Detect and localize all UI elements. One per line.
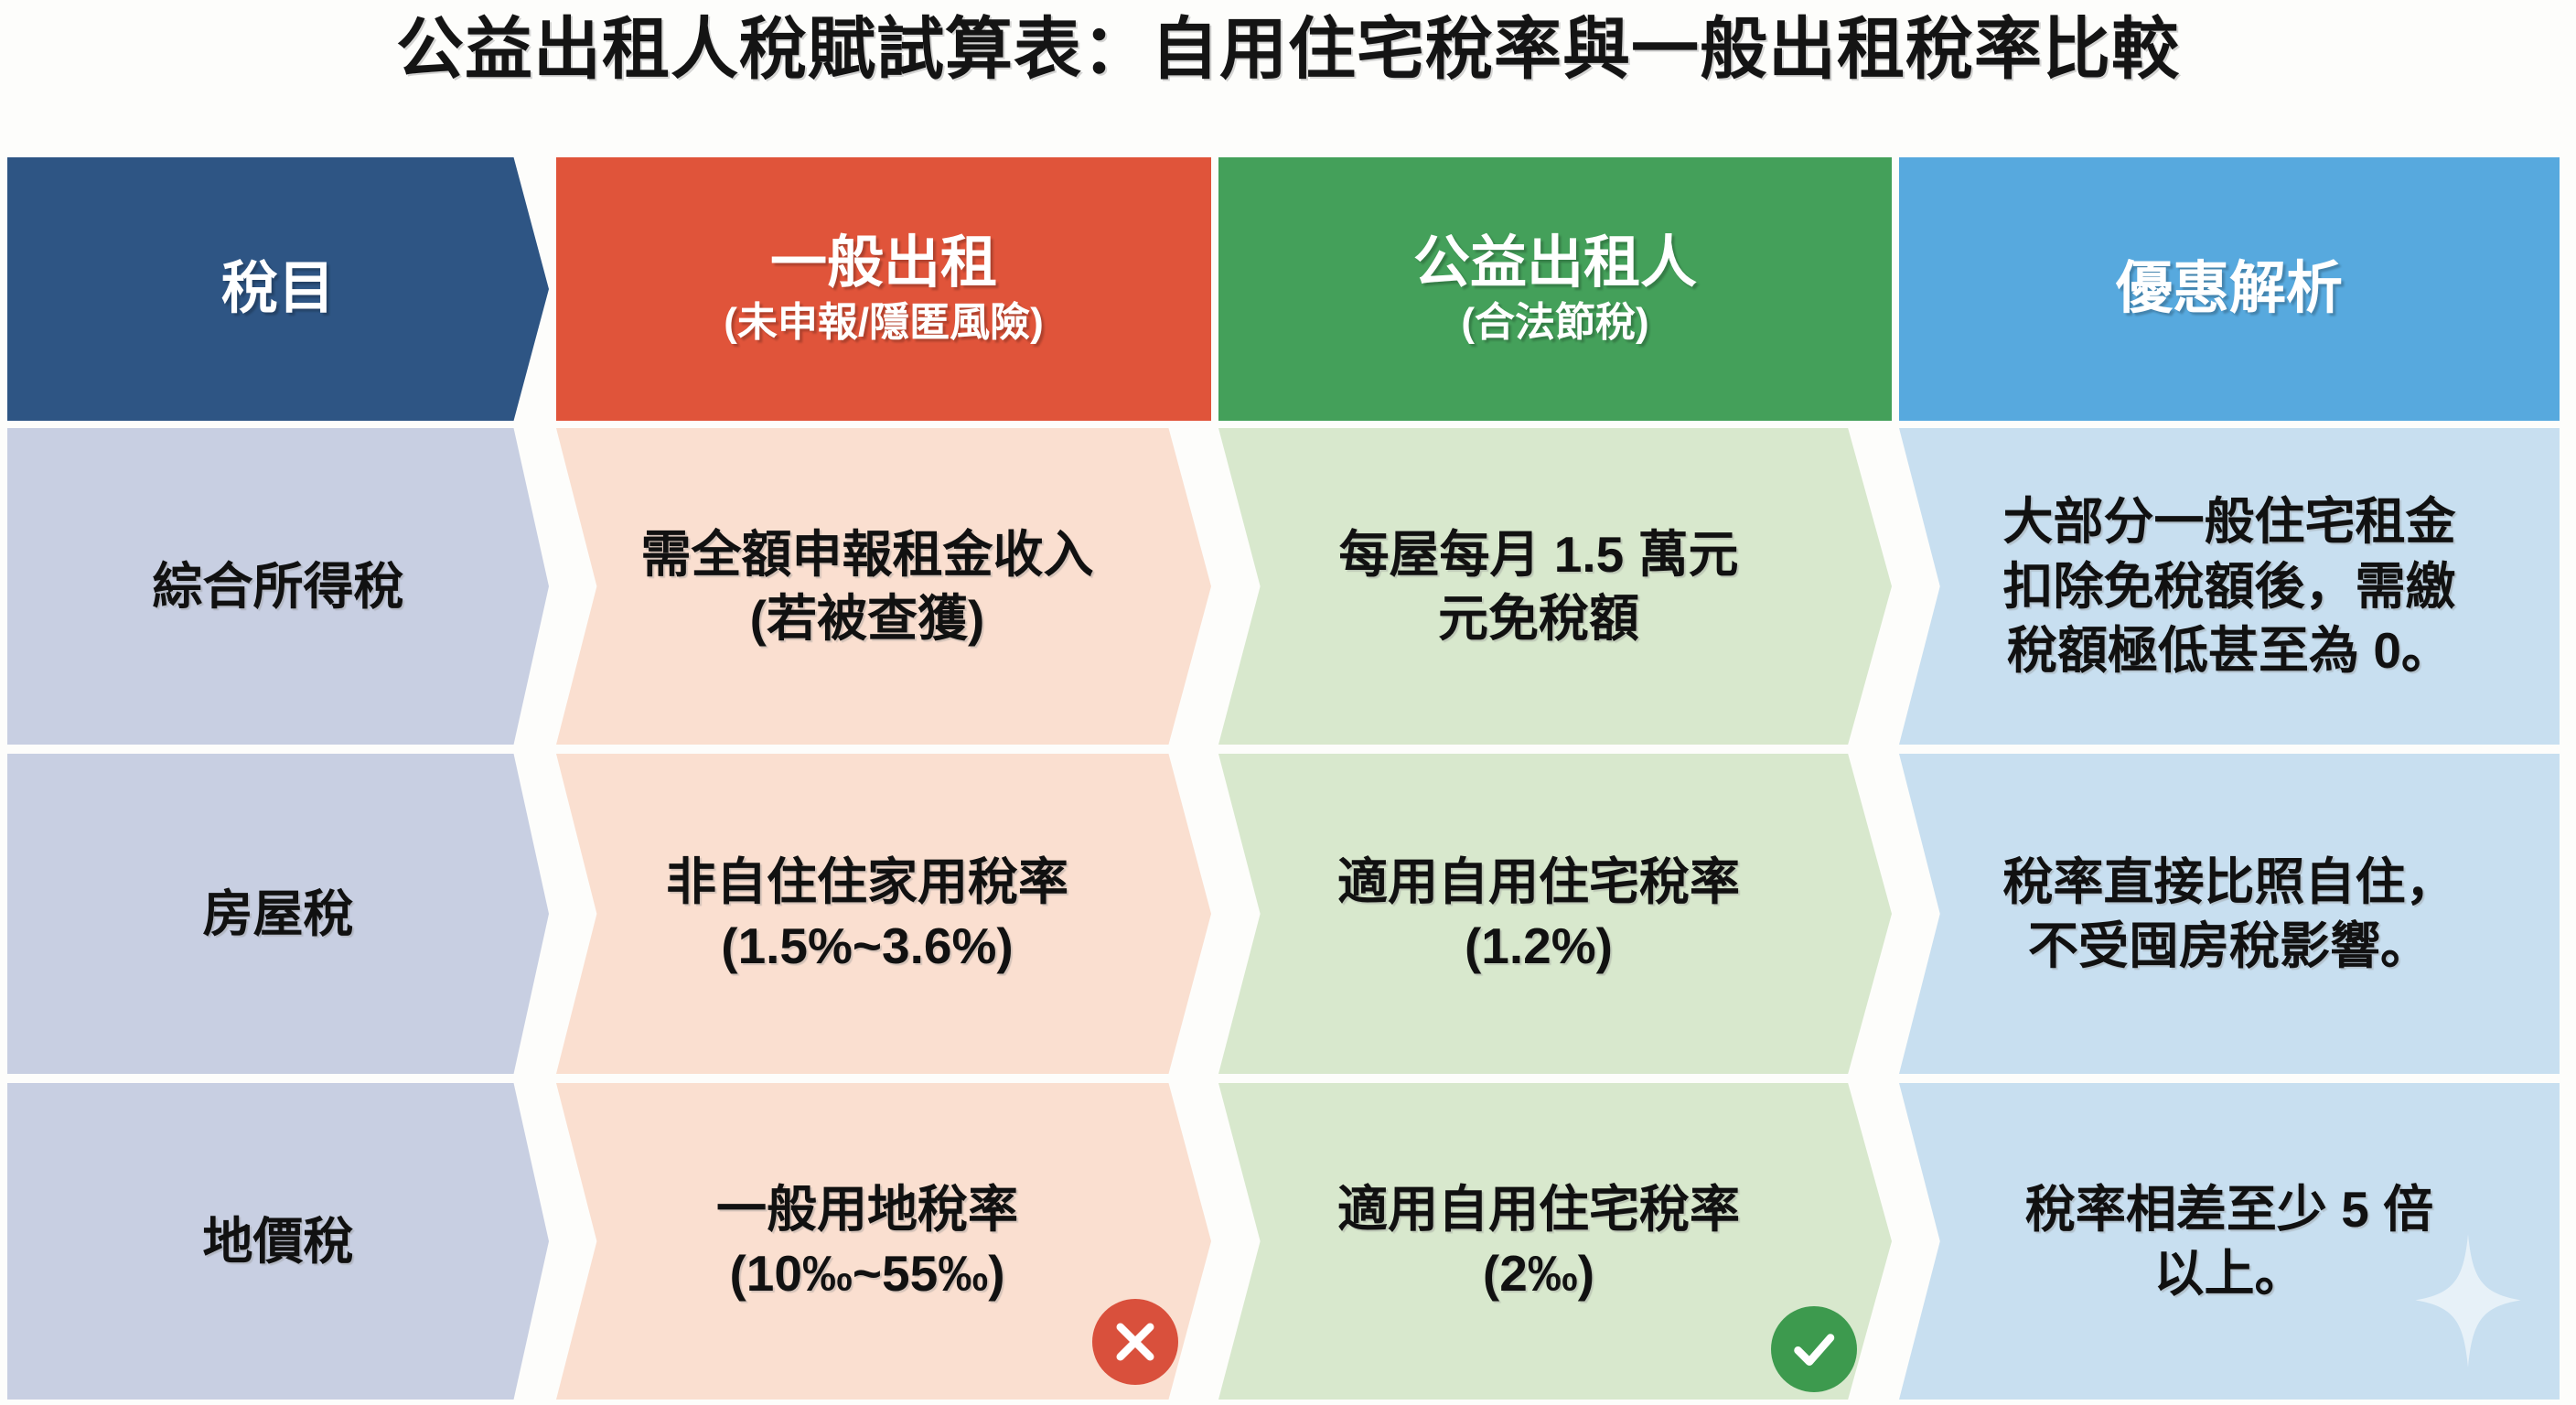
cell-general-rent-text: 非自住住家用稅率(1.5%~3.6%): [635, 850, 1100, 979]
cell-benefit-text: 稅率直接比照自住，不受囤房稅影響。: [1975, 850, 2483, 979]
cell-benefit-text: 大部分一般住宅租金扣除免稅額後，需繳稅額極低甚至為 0。: [1975, 489, 2483, 682]
header-label-main: 優惠解析: [2116, 256, 2343, 321]
comparison-table: 稅目 一般出租 (未申報/隱匿風險) 公益出租人 (合法節稅) 優惠解析 綜合所…: [7, 157, 2565, 1400]
check-icon: [1771, 1306, 1857, 1392]
table-header-tax-item: 稅目: [7, 157, 549, 421]
cell-public-landlord-text: 每屋每月 1.5 萬元元免稅額: [1307, 522, 1769, 651]
cell-general-rent-text: 一般用地稅率(10‰~55‰): [685, 1177, 1049, 1306]
table-header-public-landlord: 公益出租人 (合法節稅): [1218, 157, 1892, 421]
table-header-general-rent: 一般出租 (未申報/隱匿風險): [556, 157, 1211, 421]
cell-general-rent-text: 需全額申報租金收入(若被查獲): [609, 522, 1124, 651]
table-row: 地價稅: [7, 1083, 549, 1400]
cell-public-landlord: 適用自用住宅稅率(1.2%): [1218, 754, 1892, 1074]
header-label-main: 稅目: [221, 256, 335, 321]
cell-tax-item: 地價稅: [171, 1209, 384, 1273]
page-title: 公益出租人稅賦試算表：自用住宅稅率與一般出租稅率比較: [0, 5, 2576, 93]
cell-benefit-text: 稅率相差至少 5 倍以上。: [1998, 1177, 2461, 1306]
header-label-main: 公益出租人: [1413, 231, 1697, 295]
table-header-benefit: 優惠解析: [1899, 157, 2560, 421]
cell-general-rent: 需全額申報租金收入(若被查獲): [556, 428, 1211, 745]
cell-benefit: 大部分一般住宅租金扣除免稅額後，需繳稅額極低甚至為 0。: [1899, 428, 2560, 745]
cell-benefit: 稅率相差至少 5 倍以上。: [1899, 1083, 2560, 1400]
cell-public-landlord-text: 適用自用住宅稅率(2‰): [1306, 1177, 1771, 1306]
cell-general-rent: 非自住住家用稅率(1.5%~3.6%): [556, 754, 1211, 1074]
cell-tax-item: 綜合所得稅: [121, 554, 435, 618]
header-label-main: 一般出租: [770, 231, 997, 295]
table-row: 房屋稅: [7, 754, 549, 1074]
cell-public-landlord-text: 適用自用住宅稅率(1.2%): [1306, 850, 1771, 979]
cell-public-landlord: 每屋每月 1.5 萬元元免稅額: [1218, 428, 1892, 745]
cross-icon: [1092, 1299, 1178, 1385]
cell-tax-item: 房屋稅: [171, 882, 384, 946]
infographic-page: 公益出租人稅賦試算表：自用住宅稅率與一般出租稅率比較 稅目 一般出租 (未申報/…: [0, 0, 2576, 1405]
cell-benefit: 稅率直接比照自住，不受囤房稅影響。: [1899, 754, 2560, 1074]
header-label-sub: (未申報/隱匿風險): [724, 299, 1044, 348]
header-label-sub: (合法節稅): [1461, 299, 1648, 348]
table-row: 綜合所得稅: [7, 428, 549, 745]
